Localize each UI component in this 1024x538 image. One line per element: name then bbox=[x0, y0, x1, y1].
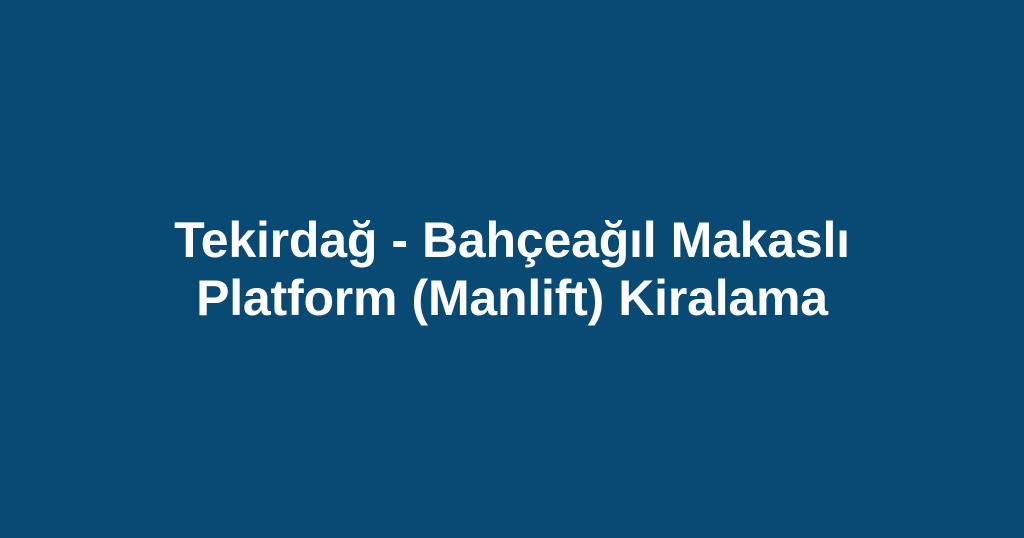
hero-banner: Tekirdağ - Bahçeağıl Makaslı Platform (M… bbox=[0, 0, 1024, 538]
page-title: Tekirdağ - Bahçeağıl Makaslı Platform (M… bbox=[0, 211, 1024, 327]
